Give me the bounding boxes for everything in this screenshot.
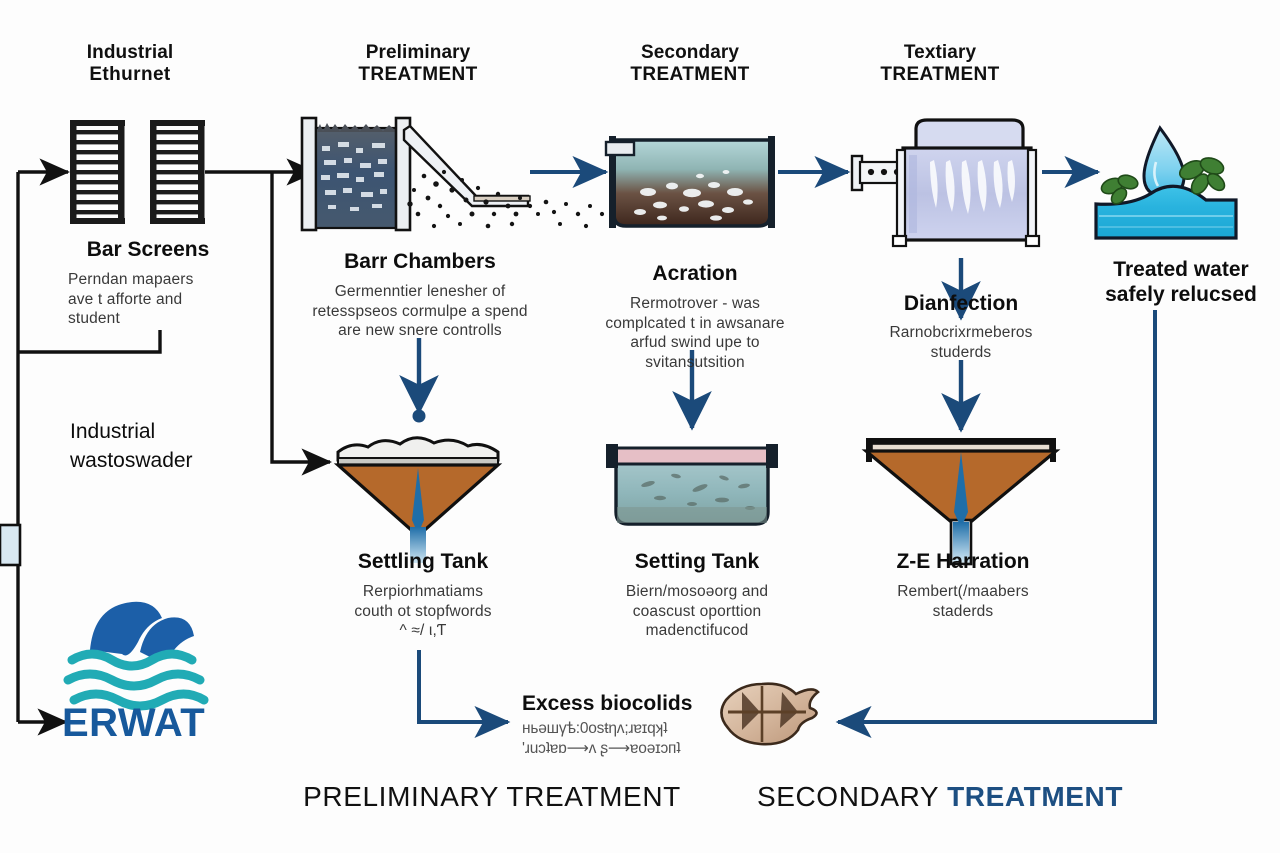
erwat-wordmark: ERWAT — [52, 700, 252, 747]
label-line2: wastoswader — [70, 449, 290, 474]
node-description: Rembert(/maabers staderds — [860, 582, 1066, 622]
node-aeration: Acration Rermotrover - was complcated t … — [580, 262, 810, 373]
stage-header-line1: Preliminary — [318, 42, 518, 64]
stage-header-line1: Textiary — [840, 42, 1040, 64]
secondary-clarifier-equipment — [606, 444, 778, 524]
node-title: Dianfection — [861, 292, 1061, 317]
node-description: Rerpiorhmatiams couth ot stopfwords ^ ≈/… — [318, 582, 528, 641]
node-settling-tank-secondary: Setting Tank Biern/mosoəorg and coascust… — [592, 550, 802, 641]
node-title: Bar Screens — [48, 238, 248, 263]
stage-header-tertiary: Textiary TREATMENT — [840, 42, 1040, 87]
node-title: Setting Tank — [592, 550, 802, 575]
stage-header-industrial: Industrial Ethurnet — [30, 42, 230, 87]
stage-header-line2: TREATMENT — [840, 64, 1040, 86]
node-settling-tank-primary: Settling Tank Rerpiorhmatiams couth ot s… — [318, 550, 528, 641]
treated-water-equipment — [1096, 128, 1236, 238]
aeration-tank-equipment — [606, 136, 775, 228]
stage-header-line2: TREATMENT — [590, 64, 790, 86]
stage-header-preliminary: Preliminary TREATMENT — [318, 42, 518, 87]
node-description: Germenntier lenesher of retesspseos corm… — [300, 282, 540, 341]
node-description: Biern/mosoəorg and coascust oporttion ma… — [592, 582, 802, 641]
stage-header-line1: Industrial — [30, 42, 230, 64]
label-line1: Industrial — [70, 420, 290, 445]
node-title: Excess biocolids — [522, 692, 722, 717]
node-treated-water: Treated water safely relucsed — [1068, 258, 1280, 308]
stage-header-line1: Secondary — [590, 42, 790, 64]
ze-harration-equipment — [866, 438, 1056, 564]
node-description: Rermotrover - was complcated t in awsana… — [580, 294, 810, 373]
node-bar-screens: Bar Screens Perndan mapaers ave t affort… — [48, 238, 248, 329]
bottom-caption-treatment-word: TREATMENT — [947, 781, 1123, 812]
stage-header-secondary: Secondary TREATMENT — [590, 42, 790, 87]
bottom-caption-preliminary: PRELIMINARY TREATMENT — [252, 780, 732, 813]
node-ze-harration: Z-E Harration Rembert(/maabers staderds — [860, 550, 1066, 621]
uv-disinfection-equipment — [852, 120, 1039, 246]
bottom-caption-secondary: SECONDARY TREATMENT — [700, 780, 1180, 813]
node-description: ньəшγѣ:0оѕŧηʌ;ɹɐɪqʞʇ 'ɹuɔʇɐɒ⟶ʌ ʂ⟶ɐoəɪɔпʇ — [522, 719, 722, 759]
diagram-canvas: Industrial Ethurnet Preliminary TREATMEN… — [0, 0, 1280, 853]
bar-screens-equipment — [70, 120, 205, 224]
node-title: Acration — [580, 262, 810, 287]
node-description: Rarnobcrixrmeberos studerds — [861, 323, 1061, 363]
node-excess-biosolids: Excess biocolids ньəшγѣ:0оѕŧηʌ;ɹɐɪqʞʇ 'ɹ… — [522, 692, 722, 758]
stage-header-line2: TREATMENT — [318, 64, 518, 86]
node-title: Barr Chambers — [300, 250, 540, 275]
bottom-caption-secondary-word: SECONDARY — [757, 781, 947, 812]
biosolids-blob-icon — [721, 684, 818, 745]
node-title: Settling Tank — [318, 550, 528, 575]
stage-header-line2: Ethurnet — [30, 64, 230, 86]
node-description: Perndan mapaers ave t afforte and studen… — [48, 270, 248, 329]
node-disinfection: Dianfection Rarnobcrixrmeberos studerds — [861, 292, 1061, 362]
node-grit-chamber: Barr Chambers Germenntier lenesher of re… — [300, 250, 540, 341]
node-title: Z-E Harration — [860, 550, 1066, 575]
label-industrial-wastewater: Industrial wastoswader — [38, 420, 290, 474]
